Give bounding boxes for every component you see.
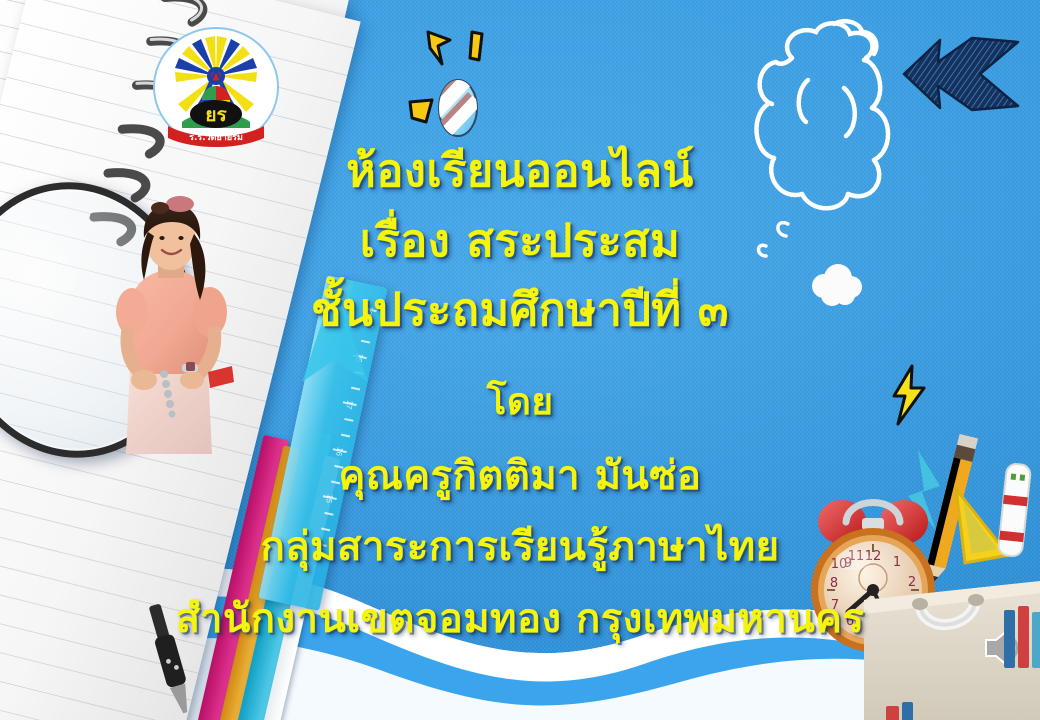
comic-shard-icon xyxy=(424,28,454,68)
double-arrow-left-icon xyxy=(902,32,1020,116)
thought-bubble-icon xyxy=(748,18,908,268)
striped-egg-icon xyxy=(434,74,482,138)
svg-text:2: 2 xyxy=(908,575,916,590)
ruler-number: 17 xyxy=(344,399,355,410)
svg-text:6: 6 xyxy=(846,614,854,629)
black-pen-icon xyxy=(138,598,208,720)
svg-text:1: 1 xyxy=(893,555,901,570)
emblem-ribbon-text: ร.ร.วัดยายร่ม xyxy=(189,132,243,143)
comic-shard-icon xyxy=(466,30,486,64)
comic-shard-icon xyxy=(406,96,436,126)
ruler-number: 14 xyxy=(314,540,325,551)
school-emblem: ยร ร.ร.วัดยายร่ม xyxy=(152,26,280,148)
svg-text:7: 7 xyxy=(831,598,839,613)
cloud-icon xyxy=(808,262,864,306)
lightning-bolt-icon xyxy=(888,364,930,426)
slide-canvas: 19 18 17 16 15 14 xyxy=(0,0,1040,720)
ruler-number: 15 xyxy=(324,493,335,504)
desk-supplies-cluster: 12 1 2 3 4 5 6 7 8 9 10 11 xyxy=(790,434,1040,720)
teacher-portrait-photo xyxy=(96,196,246,458)
emblem-monogram: ยร xyxy=(205,104,227,126)
chevron-accent-icon xyxy=(300,282,370,392)
ruler-number: 16 xyxy=(334,446,345,457)
svg-text:8: 8 xyxy=(830,576,838,591)
